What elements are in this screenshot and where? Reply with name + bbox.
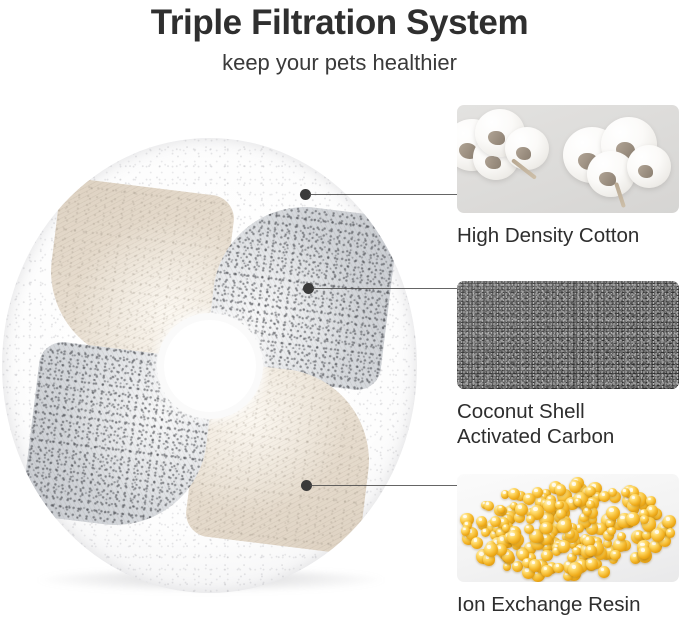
callout-panel-carbon: Coconut Shell Activated Carbon: [457, 281, 679, 449]
resin-bead: [526, 515, 535, 524]
disc-center-hole: [164, 320, 256, 412]
callout-label-carbon-line2: Activated Carbon: [457, 424, 679, 449]
resin-bead: [556, 509, 566, 519]
resin-bead: [585, 486, 595, 496]
infographic-page: Triple Filtration System keep your pets …: [0, 0, 679, 623]
resin-bead: [471, 537, 483, 549]
resin-bead: [586, 558, 598, 570]
resin-bead: [569, 480, 581, 492]
resin-bead: [502, 524, 510, 532]
resin-bead: [541, 550, 552, 561]
resin-bead: [599, 491, 610, 502]
filter-disc-illustration: [2, 138, 422, 600]
callout-line-carbon: [312, 288, 459, 289]
callout-panel-cotton: High Density Cotton: [457, 105, 679, 248]
resin-bead: [621, 488, 630, 497]
callout-label-cotton: High Density Cotton: [457, 223, 679, 248]
resin-bead: [461, 526, 470, 535]
resin-bead: [626, 512, 640, 526]
resin-bead: [572, 547, 581, 556]
resin-bead: [508, 488, 520, 500]
resin-bead: [558, 540, 571, 553]
header: Triple Filtration System keep your pets …: [0, 0, 679, 78]
filter-disc: [2, 138, 417, 593]
callout-line-cotton: [309, 194, 459, 195]
callout-panel-resin: Ion Exchange Resin: [457, 474, 679, 617]
resin-bead: [540, 522, 552, 534]
resin-bead: [610, 550, 620, 560]
cotton-bolls-photo: [457, 105, 679, 213]
resin-bead: [555, 484, 566, 495]
resin-bead: [484, 501, 494, 511]
callout-label-resin: Ion Exchange Resin: [457, 592, 679, 617]
callout-line-resin: [310, 485, 459, 486]
activated-carbon-granules-photo: [457, 281, 679, 389]
cotton-boll: [505, 127, 549, 170]
resin-bead: [646, 496, 655, 505]
resin-bead: [484, 543, 498, 557]
resin-bead: [555, 501, 563, 509]
resin-bead: [663, 515, 676, 528]
page-title: Triple Filtration System: [0, 2, 679, 44]
cotton-boll: [627, 145, 671, 188]
resin-bead: [481, 528, 490, 537]
callout-label-carbon-line1: Coconut Shell: [457, 399, 679, 424]
resin-bead: [541, 565, 553, 577]
callout-label-carbon: Coconut Shell Activated Carbon: [457, 399, 679, 449]
resin-bead: [476, 516, 487, 527]
resin-bead: [523, 493, 535, 505]
resin-bead: [529, 559, 541, 571]
resin-bead: [585, 545, 596, 556]
resin-bead: [557, 519, 572, 534]
resin-bead: [598, 566, 610, 578]
resin-bead: [607, 527, 615, 535]
resin-bead: [638, 546, 651, 559]
resin-bead: [629, 494, 641, 506]
resin-bead-field: [457, 474, 679, 582]
resin-bead: [640, 515, 649, 524]
resin-bead: [666, 528, 676, 538]
resin-bead: [512, 561, 523, 572]
ion-exchange-resin-beads-photo: [457, 474, 679, 582]
page-subtitle: keep your pets healthier: [0, 48, 679, 78]
resin-bead: [617, 532, 626, 541]
resin-bead: [553, 563, 564, 574]
resin-bead: [490, 516, 501, 527]
